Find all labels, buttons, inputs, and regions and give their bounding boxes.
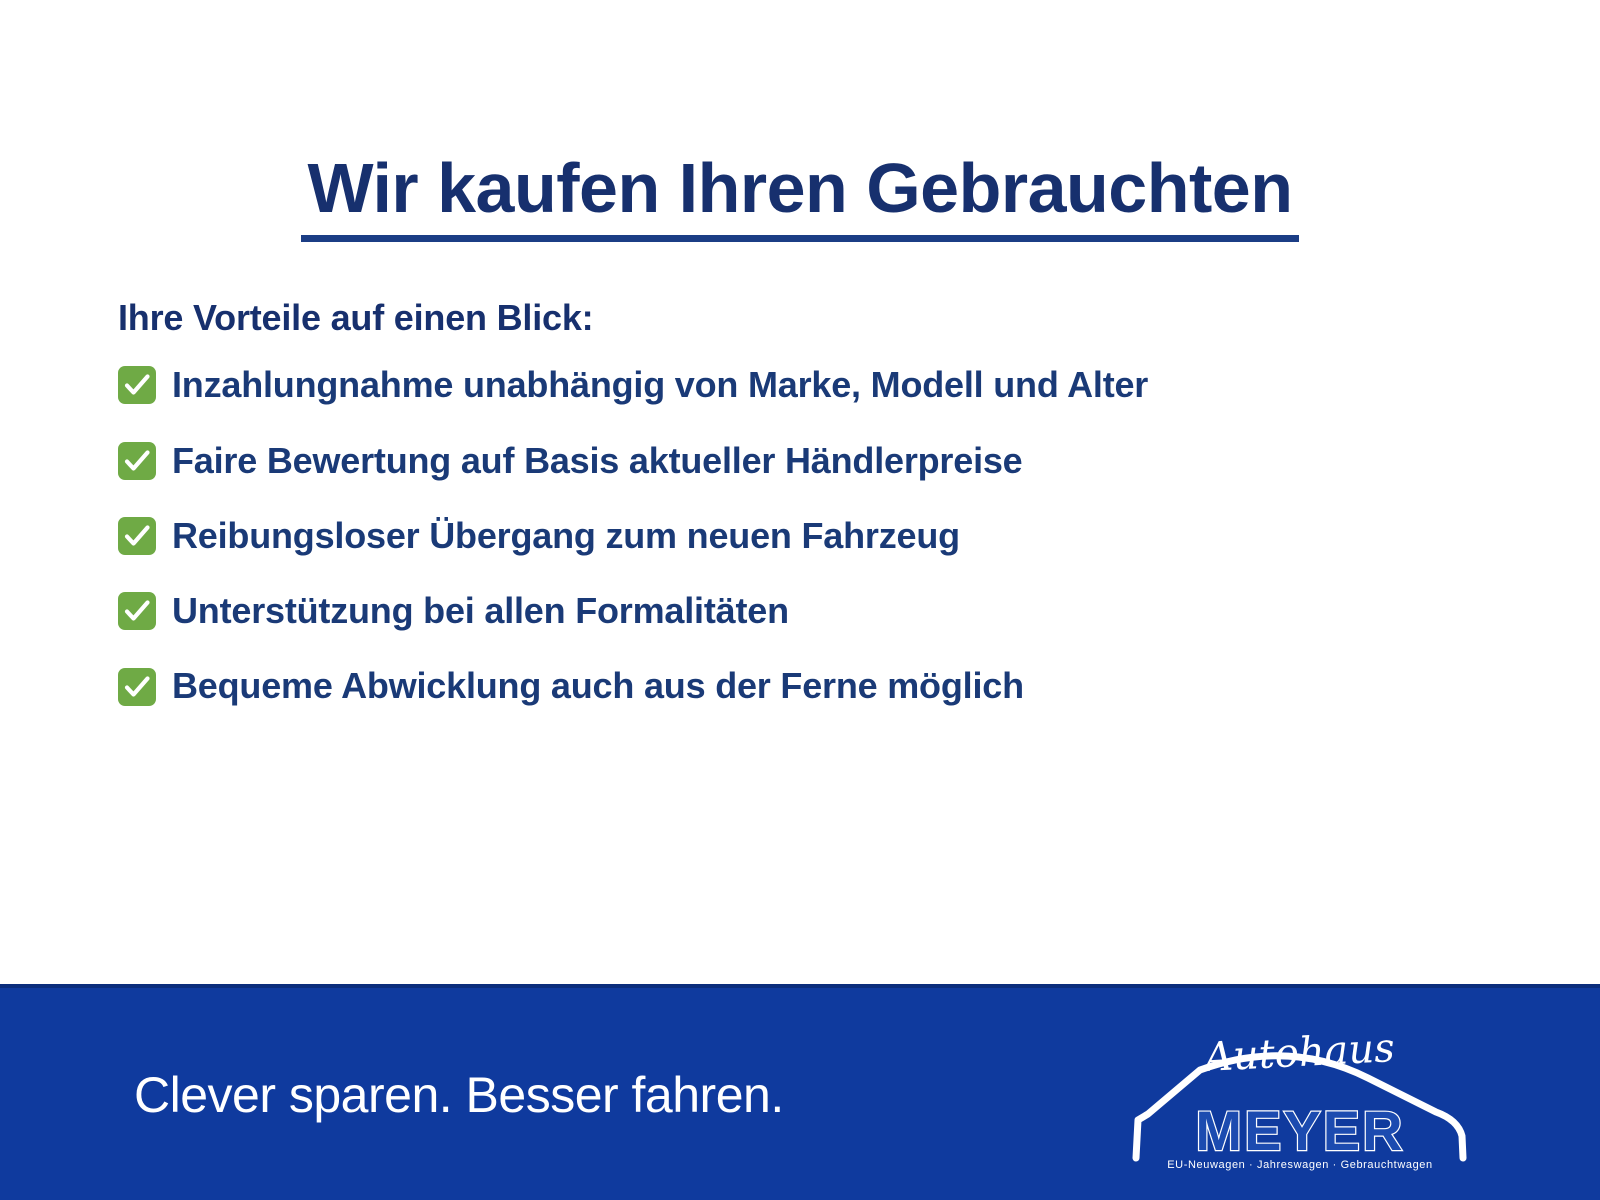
headline-container: Wir kaufen Ihren Gebrauchten: [0, 104, 1600, 289]
logo-subtitle-text: EU-Neuwagen · Jahreswagen · Gebrauchtwag…: [1167, 1159, 1433, 1171]
list-item: Reibungsloser Übergang zum neuen Fahrzeu…: [118, 516, 1538, 556]
list-item: Faire Bewertung auf Basis aktueller Händ…: [118, 441, 1538, 481]
check-icon: [118, 442, 156, 480]
slogan-text: Clever sparen. Besser fahren.: [134, 1066, 784, 1124]
list-item-label: Unterstützung bei allen Formalitäten: [172, 591, 789, 631]
check-icon: [118, 366, 156, 404]
page-title: Wir kaufen Ihren Gebrauchten: [301, 151, 1298, 242]
footer-band: Clever sparen. Besser fahren. Autohaus M…: [0, 984, 1600, 1200]
list-item-label: Reibungsloser Übergang zum neuen Fahrzeu…: [172, 516, 960, 556]
list-item: Unterstützung bei allen Formalitäten: [118, 591, 1538, 631]
dealer-logo: Autohaus MEYER EU-Neuwagen · Jahreswagen…: [1118, 1008, 1478, 1178]
list-item-label: Bequeme Abwicklung auch aus der Ferne mö…: [172, 666, 1024, 706]
list-item: Bequeme Abwicklung auch aus der Ferne mö…: [118, 666, 1538, 706]
logo-name-text: MEYER: [1195, 1099, 1404, 1162]
advertisement-page: Wir kaufen Ihren Gebrauchten Ihre Vortei…: [0, 0, 1600, 1200]
list-item-label: Inzahlungnahme unabhängig von Marke, Mod…: [172, 365, 1148, 405]
benefits-section: Ihre Vorteile auf einen Blick: Inzahlung…: [118, 296, 1538, 707]
list-item-label: Faire Bewertung auf Basis aktueller Händ…: [172, 441, 1023, 481]
benefits-list: Inzahlungnahme unabhängig von Marke, Mod…: [118, 365, 1538, 707]
benefits-heading: Ihre Vorteile auf einen Blick:: [118, 296, 1538, 339]
check-icon: [118, 668, 156, 706]
check-icon: [118, 517, 156, 555]
list-item: Inzahlungnahme unabhängig von Marke, Mod…: [118, 365, 1538, 405]
logo-script-text: Autohaus: [1199, 1025, 1396, 1081]
check-icon: [118, 592, 156, 630]
